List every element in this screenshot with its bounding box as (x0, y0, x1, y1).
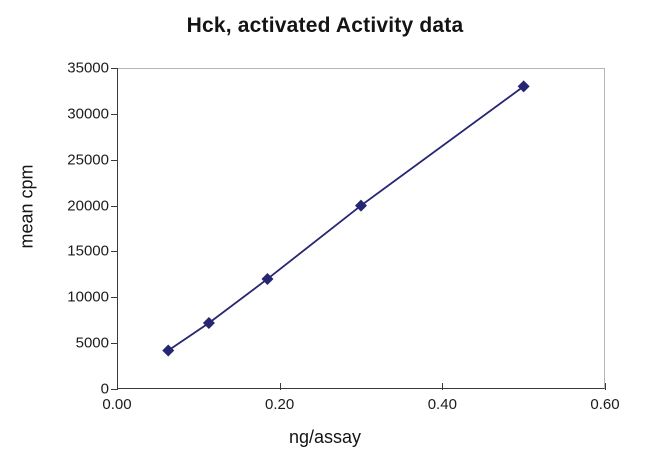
y-axis-tick-label: 20000 (39, 197, 109, 214)
y-axis-tick-mark (111, 251, 118, 252)
y-axis-tick-label: 0 (39, 381, 109, 398)
y-axis-tick-label: 30000 (39, 105, 109, 122)
data-point-marker (162, 344, 174, 356)
x-axis-tick-label: 0.60 (565, 396, 645, 413)
x-axis-tick-mark (280, 383, 281, 390)
x-axis-tick-label: 0.40 (402, 396, 482, 413)
y-axis-tick-mark (111, 297, 118, 298)
y-axis-tick-label: 35000 (39, 60, 109, 77)
x-axis-tick-label: 0.00 (77, 396, 157, 413)
y-axis-tick-label: 10000 (39, 289, 109, 306)
y-axis-tick-label: 15000 (39, 243, 109, 260)
x-axis-tick-mark (605, 383, 606, 390)
x-axis-tick-mark (442, 383, 443, 390)
y-axis-tick-mark (111, 206, 118, 207)
x-axis-tick-label: 0.20 (240, 396, 320, 413)
data-point-marker (518, 80, 530, 92)
y-axis-tick-mark (111, 343, 118, 344)
y-axis-tick-label: 25000 (39, 151, 109, 168)
x-axis-title: ng/assay (0, 427, 650, 448)
chart-container: Hck, activated Activity data 05000100001… (0, 0, 650, 474)
data-series-layer (117, 68, 605, 389)
series-line (168, 86, 523, 350)
x-axis-tick-mark (117, 383, 118, 390)
y-axis-tick-mark (111, 160, 118, 161)
y-axis-tick-label: 5000 (39, 335, 109, 352)
y-axis-tick-mark (111, 68, 118, 69)
y-axis-title: mean cpm (17, 137, 38, 277)
y-axis-tick-mark (111, 114, 118, 115)
